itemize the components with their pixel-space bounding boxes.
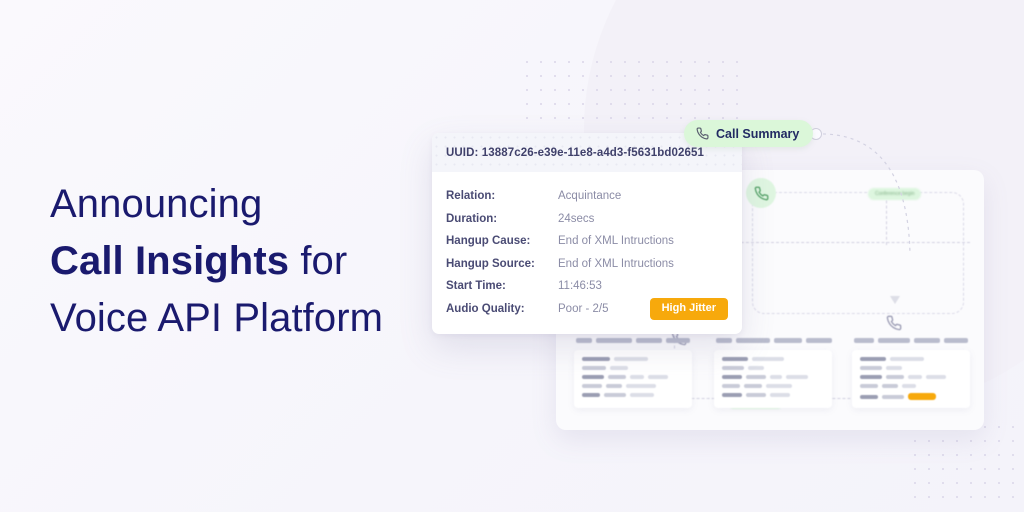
detail-value: Poor - 2/5	[558, 303, 650, 315]
dot-pattern-bottom-right	[908, 420, 1018, 508]
detail-row-audio-quality: Audio Quality: Poor - 2/5 High Jitter	[446, 298, 728, 321]
detail-value: End of XML Intructions	[558, 235, 728, 247]
detail-row-hangup-cause: Hangup Cause: End of XML Intructions	[446, 230, 728, 253]
call-uuid: UUID: 13887c26-e39e-11e8-a4d3-f5631bd026…	[446, 147, 728, 159]
flow-card-header-bars-3	[854, 338, 972, 348]
flow-card-bottom-1	[574, 350, 692, 408]
headline: Announcing Call Insights for Voice API P…	[50, 176, 450, 347]
detail-row-relation: Relation: Acquintance	[446, 185, 728, 208]
detail-label: Hangup Cause:	[446, 235, 558, 247]
flow-label-conference-begin: Conference begin	[868, 188, 921, 200]
announcement-banner: Announcing Call Insights for Voice API P…	[0, 0, 1024, 512]
headline-emphasis: Call Insights	[50, 239, 289, 283]
detail-value: Acquintance	[558, 190, 728, 202]
detail-label: Hangup Source:	[446, 258, 558, 270]
detail-value: 24secs	[558, 213, 728, 225]
high-jitter-badge[interactable]: High Jitter	[650, 298, 728, 320]
detail-label: Start Time:	[446, 280, 558, 292]
call-summary-card-body: Relation: Acquintance Duration: 24secs H…	[432, 172, 742, 334]
call-summary-pill-label: Call Summary	[716, 127, 799, 141]
detail-value: 11:46:53	[558, 280, 728, 292]
call-summary-card: UUID: 13887c26-e39e-11e8-a4d3-f5631bd026…	[432, 133, 742, 334]
call-start-node-icon	[746, 178, 776, 208]
phone-icon	[696, 127, 709, 140]
phone-icon-right	[886, 315, 902, 336]
dashed-group-box	[752, 192, 964, 314]
headline-line-3: Voice API Platform	[50, 290, 450, 347]
headline-line-2: Call Insights for	[50, 233, 450, 290]
detail-label: Audio Quality:	[446, 303, 558, 315]
detail-row-hangup-source: Hangup Source: End of XML Intructions	[446, 253, 728, 276]
detail-value: End of XML Intructions	[558, 258, 728, 270]
detail-label: Duration:	[446, 213, 558, 225]
call-summary-pill[interactable]: Call Summary	[684, 120, 813, 147]
headline-line-1: Announcing	[50, 176, 450, 233]
detail-row-start-time: Start Time: 11:46:53	[446, 275, 728, 298]
flow-card-bottom-3	[852, 350, 970, 408]
detail-row-duration: Duration: 24secs	[446, 208, 728, 231]
flow-card-header-bars-1	[576, 338, 694, 348]
flow-card-header-bars-2	[716, 338, 836, 348]
headline-line-2-rest: for	[289, 239, 347, 283]
detail-label: Relation:	[446, 190, 558, 202]
flow-card-bottom-2	[714, 350, 832, 408]
flow-arrow-head-right	[890, 296, 900, 304]
dot-pattern-top	[520, 55, 750, 130]
